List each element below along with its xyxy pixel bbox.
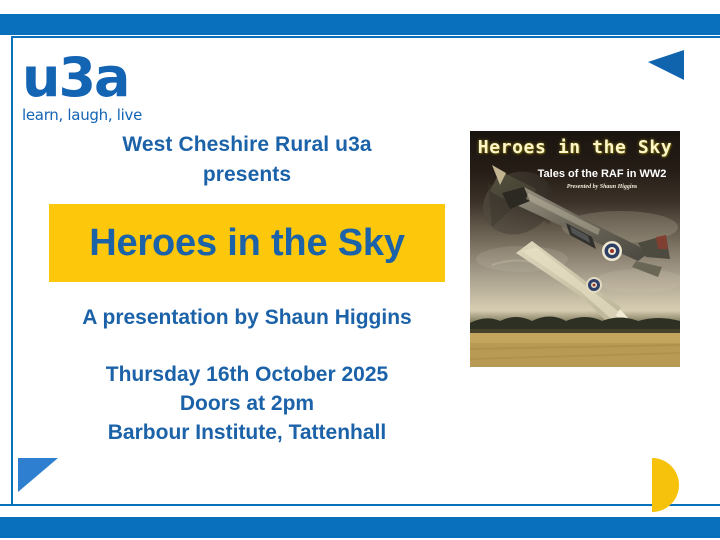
poster-image: Heroes in the Sky Tales of the RAF in WW… bbox=[470, 131, 680, 367]
poster-credit-text: Presented by Shaun Higgins bbox=[532, 184, 672, 190]
presenter-org-line: West Cheshire Rural u3a bbox=[32, 130, 462, 160]
frame-left-line bbox=[11, 36, 13, 506]
blue-triangle-icon-top-right bbox=[648, 50, 684, 80]
event-title: Heroes in the Sky bbox=[89, 222, 405, 265]
poster-subtitle-text: Tales of the RAF in WW2 bbox=[532, 168, 672, 180]
poster-text-column: West Cheshire Rural u3a presents Heroes … bbox=[32, 130, 462, 447]
event-poster-slide: u3a learn, laugh, live West Cheshire Rur… bbox=[0, 0, 720, 540]
top-blue-band bbox=[0, 14, 720, 35]
event-date: Thursday 16th October 2025 bbox=[32, 360, 462, 389]
event-details: Thursday 16th October 2025 Doors at 2pm … bbox=[32, 360, 462, 447]
event-venue: Barbour Institute, Tattenhall bbox=[32, 418, 462, 447]
poster-title-text: Heroes in the Sky bbox=[470, 137, 680, 158]
event-doors-time: Doors at 2pm bbox=[32, 389, 462, 418]
presents-word: presents bbox=[32, 160, 462, 190]
spitfire-aircraft-illustration bbox=[470, 131, 680, 367]
u3a-logo-mark: u3a bbox=[22, 52, 172, 104]
bottom-blue-band bbox=[0, 517, 720, 538]
frame-bottom-line bbox=[0, 504, 720, 506]
u3a-logo-tagline: learn, laugh, live bbox=[22, 106, 172, 124]
title-banner: Heroes in the Sky bbox=[49, 204, 445, 282]
u3a-logo: u3a learn, laugh, live bbox=[22, 52, 172, 124]
frame-top-line bbox=[11, 36, 720, 38]
speaker-byline: A presentation by Shaun Higgins bbox=[32, 304, 462, 332]
blue-triangle-icon-bottom-left bbox=[18, 458, 58, 492]
